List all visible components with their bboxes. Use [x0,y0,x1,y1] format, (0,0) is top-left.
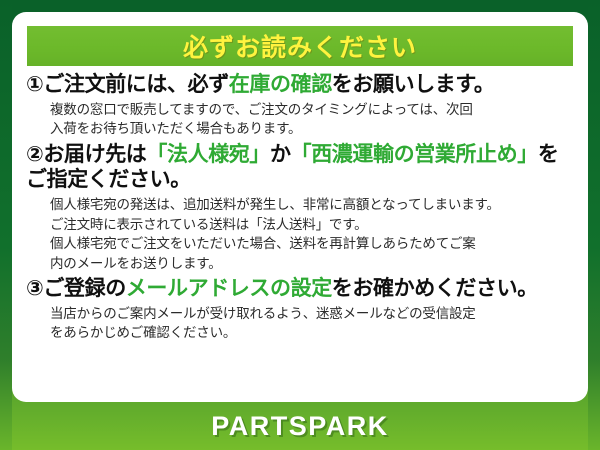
notice-list: ①ご注文前には、必ず在庫の確認をお願いします。複数の窓口で販売してますので、ご注… [12,72,588,346]
notice-body-line: 入荷をお待ち頂いただく場合もあります。 [50,119,574,139]
notice-heading-text: お届け先は [43,143,146,166]
notice-body-line: ご注文時に表示されている送料は「法人送料」です。 [50,215,574,235]
frame-right-rail [588,0,600,450]
notice-heading-accent: 「西濃運輸の営業所止め」 [291,143,538,166]
notice-item-body: 当店からのご案内メールが受け取れるよう、迷惑メールなどの受信設定をあらかじめご確… [50,304,574,343]
notice-heading-text: をお確かめください。 [332,277,538,300]
page-title: 必ずお読みください [183,28,417,64]
notice-item: ③ご登録のメールアドレスの設定をお確かめください。当店からのご案内メールが受け取… [26,276,574,343]
notice-body-line: 個人様宅宛でご注文をいただいた場合、送料を再計算しあらためてご案 [50,234,574,254]
notice-item: ①ご注文前には、必ず在庫の確認をお願いします。複数の窓口で販売してますので、ご注… [26,72,574,139]
brand-logo-text: PARTSPARK [211,411,389,442]
notice-heading-text: か [270,143,291,166]
notice-heading-text: をお願いします。 [332,73,495,96]
notice-body-line: 当店からのご案内メールが受け取れるよう、迷惑メールなどの受信設定 [50,304,574,324]
notice-item-heading: ①ご注文前には、必ず在庫の確認をお願いします。 [26,72,574,98]
notice-item-number: ③ [26,277,43,300]
notice-heading-text: ご登録の [43,277,125,300]
notice-item-body: 個人様宅宛の発送は、追加送料が発生し、非常に高額となってしまいます。ご注文時に表… [50,195,574,273]
notice-banner: 必ずお読みください ①ご注文前には、必ず在庫の確認をお願いします。複数の窓口で販… [0,0,600,450]
notice-body-line: 個人様宅宛の発送は、追加送料が発生し、非常に高額となってしまいます。 [50,195,574,215]
title-bar: 必ずお読みください [27,26,573,66]
notice-item-heading: ③ご登録のメールアドレスの設定をお確かめください。 [26,276,574,302]
footer-bar: PARTSPARK [0,402,600,450]
notice-item-heading: ②お届け先は「法人様宛」か「西濃運輸の営業所止め」をご指定ください。 [26,142,574,193]
notice-body-line: 内のメールをお送りします。 [50,254,574,274]
notice-heading-accent: 「法人様宛」 [146,143,270,166]
notice-heading-accent: 在庫の確認 [229,73,332,96]
notice-heading-text: ご注文前には、必ず [43,73,228,96]
notice-heading-accent: メールアドレスの設定 [126,277,332,300]
notice-item-body: 複数の窓口で販売してますので、ご注文のタイミングによっては、次回入荷をお待ち頂い… [50,100,574,139]
notice-item: ②お届け先は「法人様宛」か「西濃運輸の営業所止め」をご指定ください。個人様宅宛の… [26,142,574,273]
notice-item-number: ② [26,143,43,166]
frame-left-rail [0,0,12,450]
notice-body-line: 複数の窓口で販売してますので、ご注文のタイミングによっては、次回 [50,100,574,120]
notice-card: 必ずお読みください ①ご注文前には、必ず在庫の確認をお願いします。複数の窓口で販… [12,12,588,402]
notice-item-number: ① [26,73,43,96]
notice-body-line: をあらかじめご確認ください。 [50,323,574,343]
